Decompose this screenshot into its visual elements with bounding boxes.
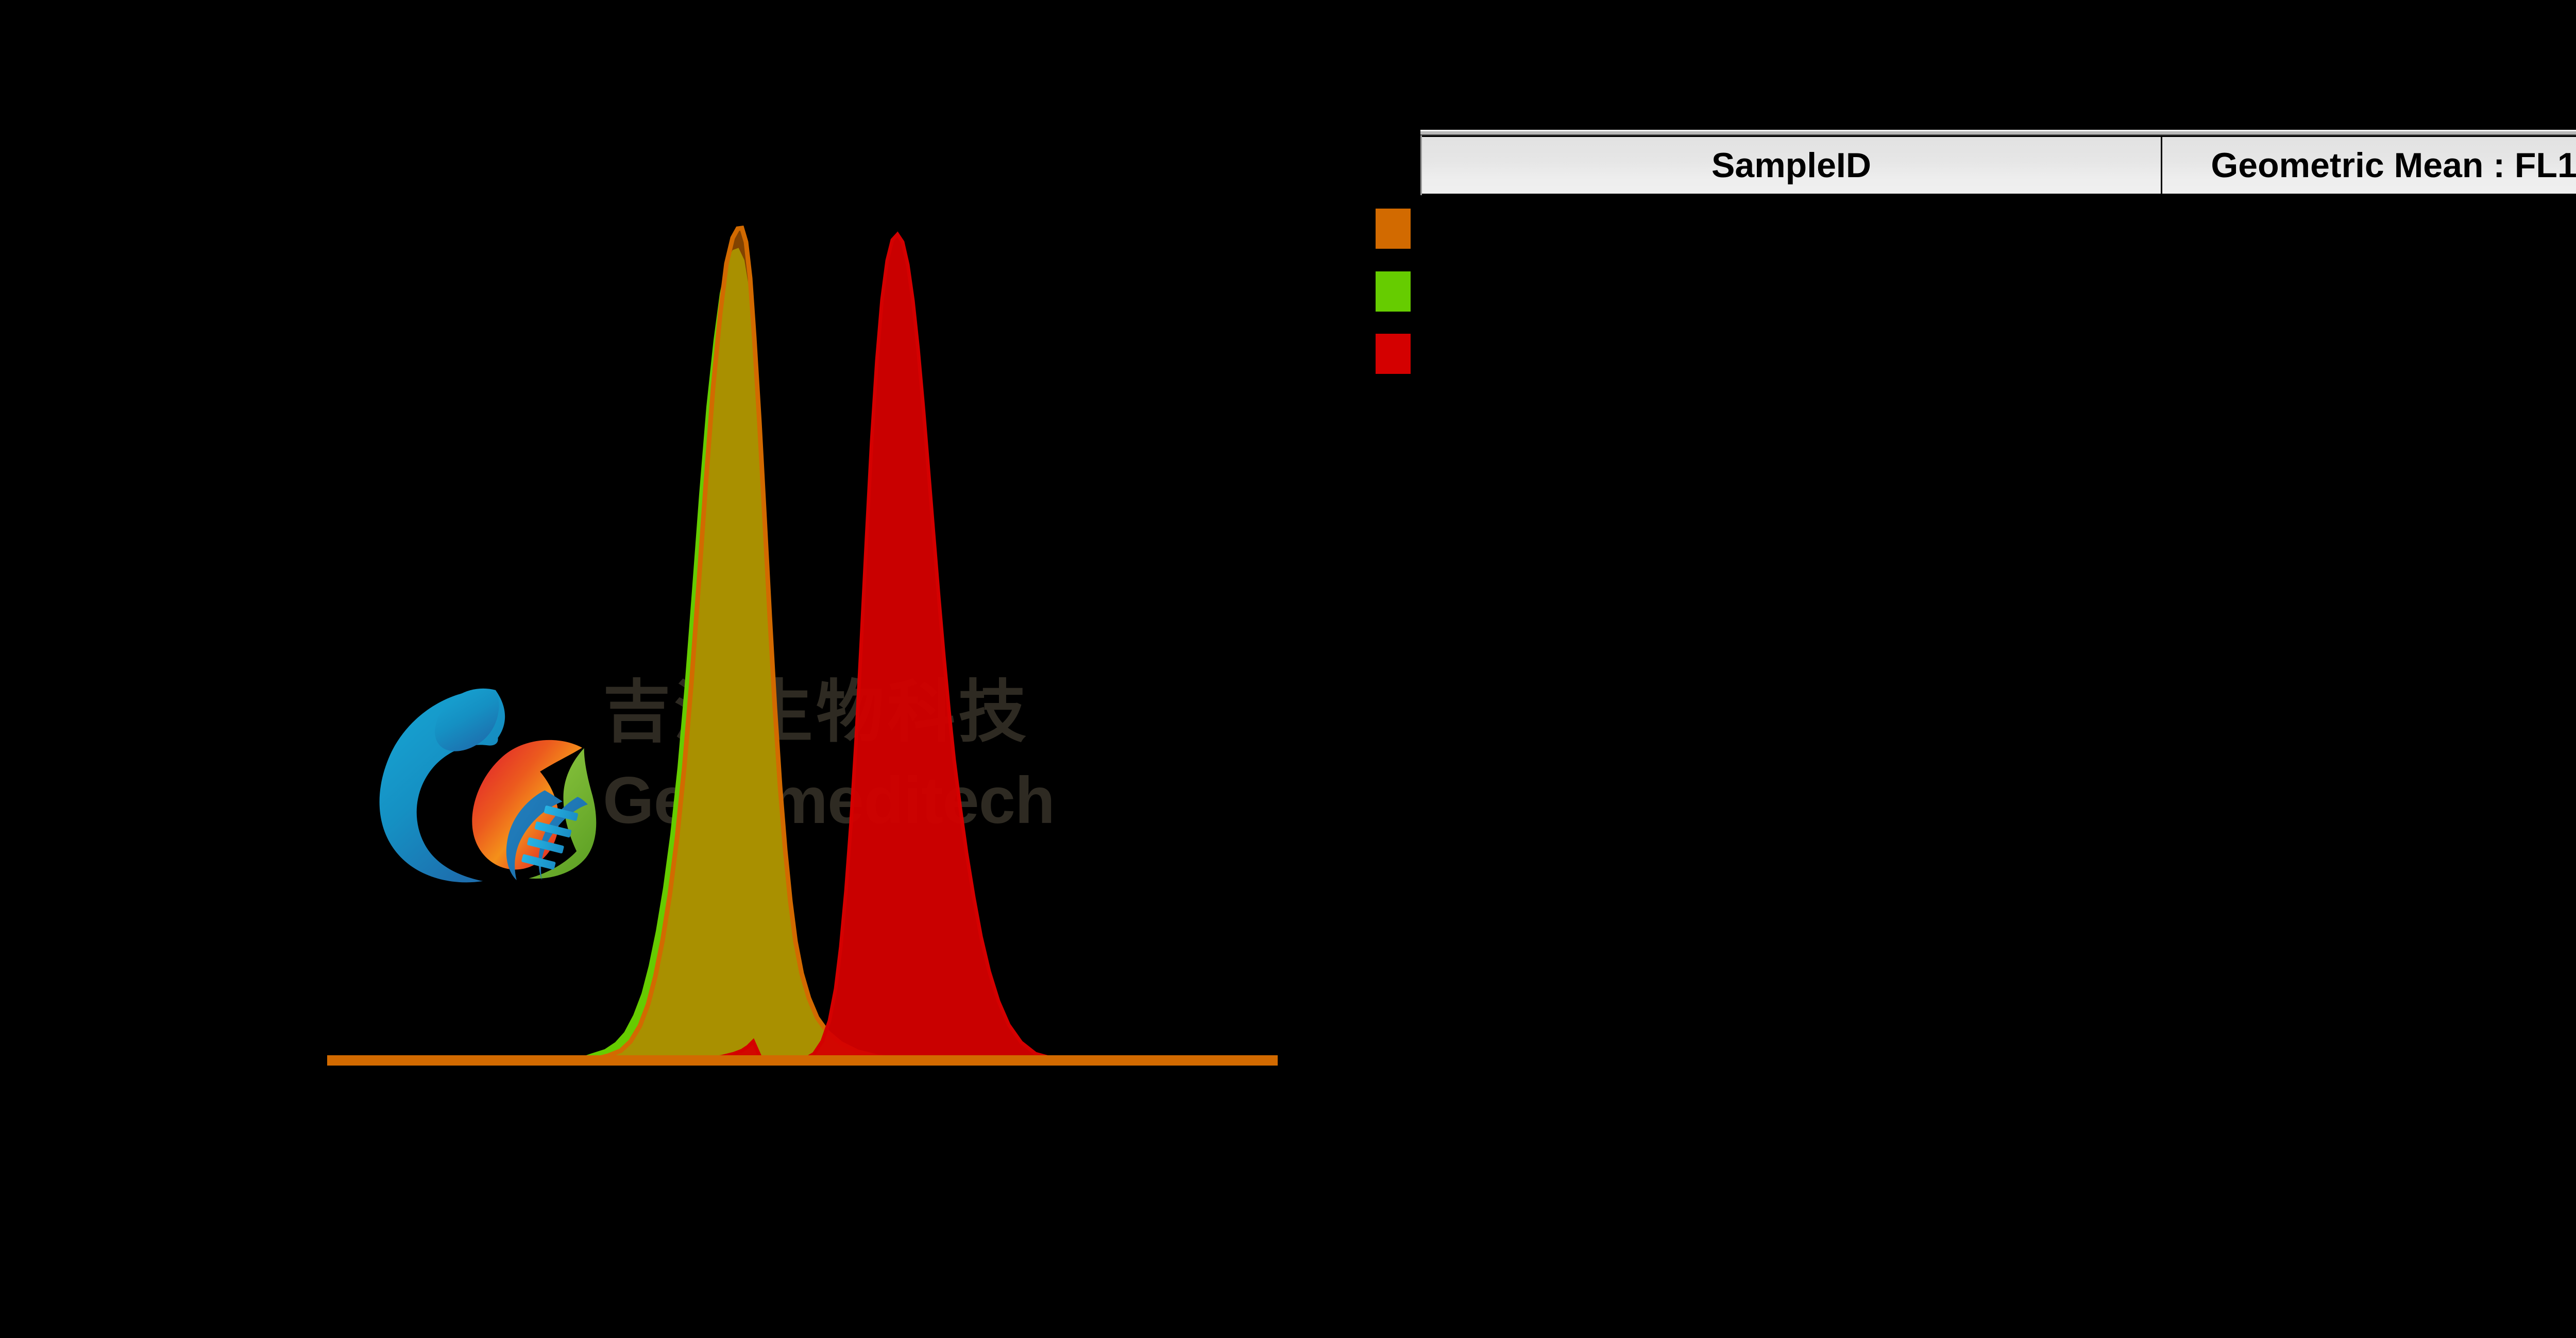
column-header-sample-id[interactable]: SampleID	[1421, 136, 2162, 195]
legend	[1376, 206, 1422, 381]
series-red-curve	[327, 234, 1278, 1060]
series-green-curve	[327, 250, 1278, 1060]
column-header-geometric-mean[interactable]: Geometric Mean : FL11-H	[2162, 136, 2576, 195]
series-green-swatch[interactable]	[1376, 271, 1411, 312]
series-orange-curve	[327, 228, 1278, 1060]
stats-table-container: SampleID Geometric Mean : FL11-H	[1420, 130, 2576, 195]
series-red-swatch[interactable]	[1376, 334, 1411, 374]
screenshot-root: 吉满生物科技 Genomeditech	[0, 0, 2576, 1338]
stats-table: SampleID Geometric Mean : FL11-H	[1420, 135, 2576, 195]
stats-table-top-rule	[1420, 130, 2576, 135]
histogram-plot	[0, 0, 1391, 1133]
histogram-canvas	[0, 0, 1391, 1133]
stats-table-header-row: SampleID Geometric Mean : FL11-H	[1421, 136, 2576, 195]
baseline-orange	[327, 1055, 1278, 1066]
series-orange-swatch[interactable]	[1376, 209, 1411, 249]
